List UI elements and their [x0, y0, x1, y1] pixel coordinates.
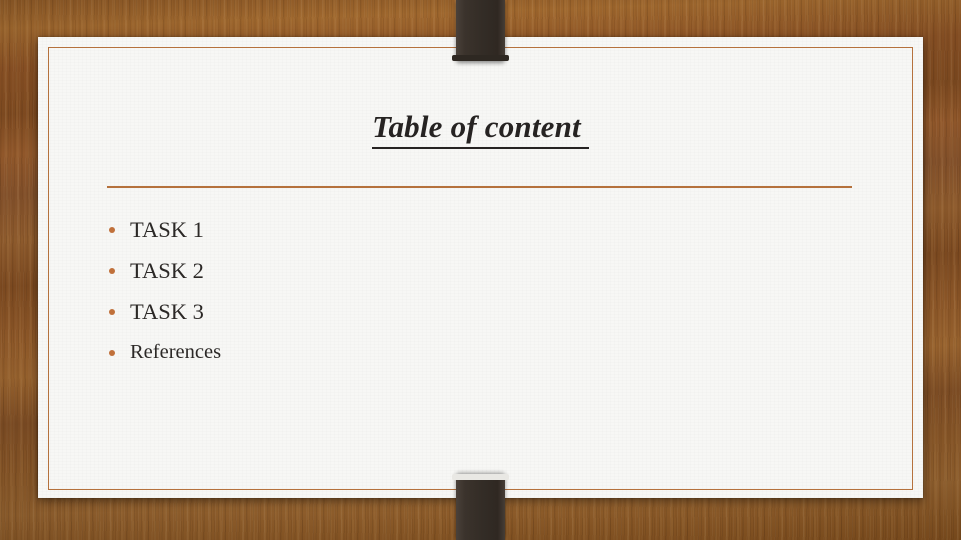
list-item[interactable]: TASK 2	[104, 250, 864, 291]
bullet-dot-icon	[109, 350, 115, 356]
bullet-dot-icon	[109, 268, 115, 274]
bullet-dot-icon	[109, 227, 115, 233]
table-of-contents-list: TASK 1 TASK 2 TASK 3 References	[104, 209, 864, 373]
presentation-slide: Table of content TASK 1 TASK 2 TASK 3 Re…	[0, 0, 961, 540]
slide-content: Table of content TASK 1 TASK 2 TASK 3 Re…	[38, 37, 923, 498]
page-title: Table of content	[38, 109, 923, 145]
list-item[interactable]: TASK 1	[104, 209, 864, 250]
list-item[interactable]: TASK 3	[104, 291, 864, 332]
page-title-text: Table of content	[372, 109, 589, 149]
title-divider-rule	[107, 186, 852, 188]
bullet-dot-icon	[109, 309, 115, 315]
list-item-label: TASK 1	[130, 217, 204, 242]
list-item[interactable]: References	[104, 332, 864, 373]
list-item-label: TASK 2	[130, 258, 204, 283]
list-item-label: References	[130, 341, 221, 363]
list-item-label: TASK 3	[130, 299, 204, 324]
